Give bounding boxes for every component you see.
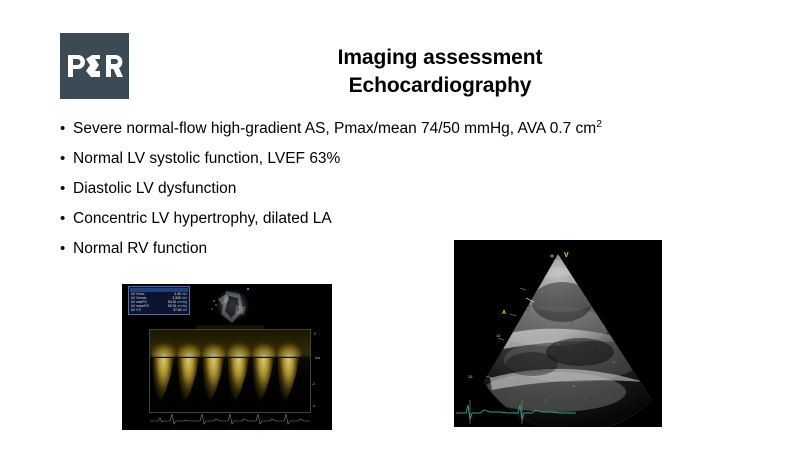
spectral-haze bbox=[150, 330, 310, 412]
list-item-text: Severe normal-flow high-gradient AS, Pma… bbox=[73, 120, 596, 137]
list-item-text: Concentric LV hypertrophy, dilated LA bbox=[73, 210, 332, 227]
measurement-label: AV VTI bbox=[131, 309, 141, 313]
list-item-label: Concentric LV hypertrophy, dilated LA bbox=[73, 209, 760, 228]
slide-canvas: Imaging assessment Echocardiography • Se… bbox=[0, 0, 800, 450]
doppler-ecg-trace bbox=[150, 410, 310, 426]
title-line-1: Imaging assessment bbox=[180, 44, 700, 72]
sector-side-marker: A bbox=[502, 310, 506, 316]
doppler-inset-graphic bbox=[196, 285, 264, 329]
velocity-scale-tick: 2 bbox=[314, 332, 316, 336]
list-item: • Concentric LV hypertrophy, dilated LA bbox=[60, 209, 760, 239]
list-item: • Normal LV systolic function, LVEF 63% bbox=[60, 149, 760, 179]
sector-ecg-trace bbox=[456, 400, 576, 424]
measurement-value: 97.84 bbox=[173, 308, 181, 312]
sector-scan-area: V A 10 15 bbox=[454, 240, 662, 427]
depth-label: 15 bbox=[468, 374, 472, 379]
bullet-marker-icon: • bbox=[60, 149, 73, 169]
page-title: Imaging assessment Echocardiography bbox=[180, 44, 700, 100]
doppler-measurement-panel: AV Vmax 4.46m/s AV Vmean 3.326m/s AV max… bbox=[128, 286, 190, 315]
velocity-unit-label: m/s bbox=[315, 356, 320, 360]
list-item-label: Diastolic LV dysfunction bbox=[73, 179, 760, 198]
title-line-2: Echocardiography bbox=[180, 72, 700, 100]
sector-ecg-graphic bbox=[456, 400, 576, 424]
measurement-row: AV VTI 97.84cm bbox=[129, 309, 189, 313]
list-item-superscript: 2 bbox=[596, 119, 602, 130]
sector-scan-graphic bbox=[454, 240, 662, 427]
list-item-text: Diastolic LV dysfunction bbox=[73, 180, 236, 197]
list-item-label: Normal LV systolic function, LVEF 63% bbox=[73, 149, 760, 168]
velocity-scale-tick: -4 bbox=[312, 404, 315, 408]
list-item-text: Normal LV systolic function, LVEF 63% bbox=[73, 150, 340, 167]
velocity-scale-tick: -2 bbox=[312, 382, 315, 386]
bullet-marker-icon: • bbox=[60, 179, 73, 199]
bullet-marker-icon: • bbox=[60, 119, 73, 139]
doppler-spectral-trace bbox=[150, 330, 310, 412]
measurement-unit: cm bbox=[182, 308, 187, 312]
doppler-2d-inset bbox=[196, 285, 264, 329]
doppler-echo-image: AV Vmax 4.46m/s AV Vmean 3.326m/s AV max… bbox=[122, 284, 332, 430]
doppler-ecg-graphic bbox=[150, 410, 310, 426]
sector-apex-marker: V bbox=[564, 252, 569, 259]
bullet-marker-icon: • bbox=[60, 239, 73, 259]
pcr-logo bbox=[60, 33, 129, 99]
bullet-marker-icon: • bbox=[60, 209, 73, 229]
depth-label: 10 bbox=[496, 333, 500, 338]
list-item-label: Severe normal-flow high-gradient AS, Pma… bbox=[73, 119, 760, 138]
list-item: • Severe normal-flow high-gradient AS, P… bbox=[60, 119, 760, 149]
pcr-logo-icon bbox=[66, 53, 124, 79]
list-item: • Diastolic LV dysfunction bbox=[60, 179, 760, 209]
list-item-text: Normal RV function bbox=[73, 240, 207, 257]
sector-echo-image: V A 10 15 bbox=[454, 240, 662, 427]
spectral-baseline bbox=[150, 357, 310, 358]
